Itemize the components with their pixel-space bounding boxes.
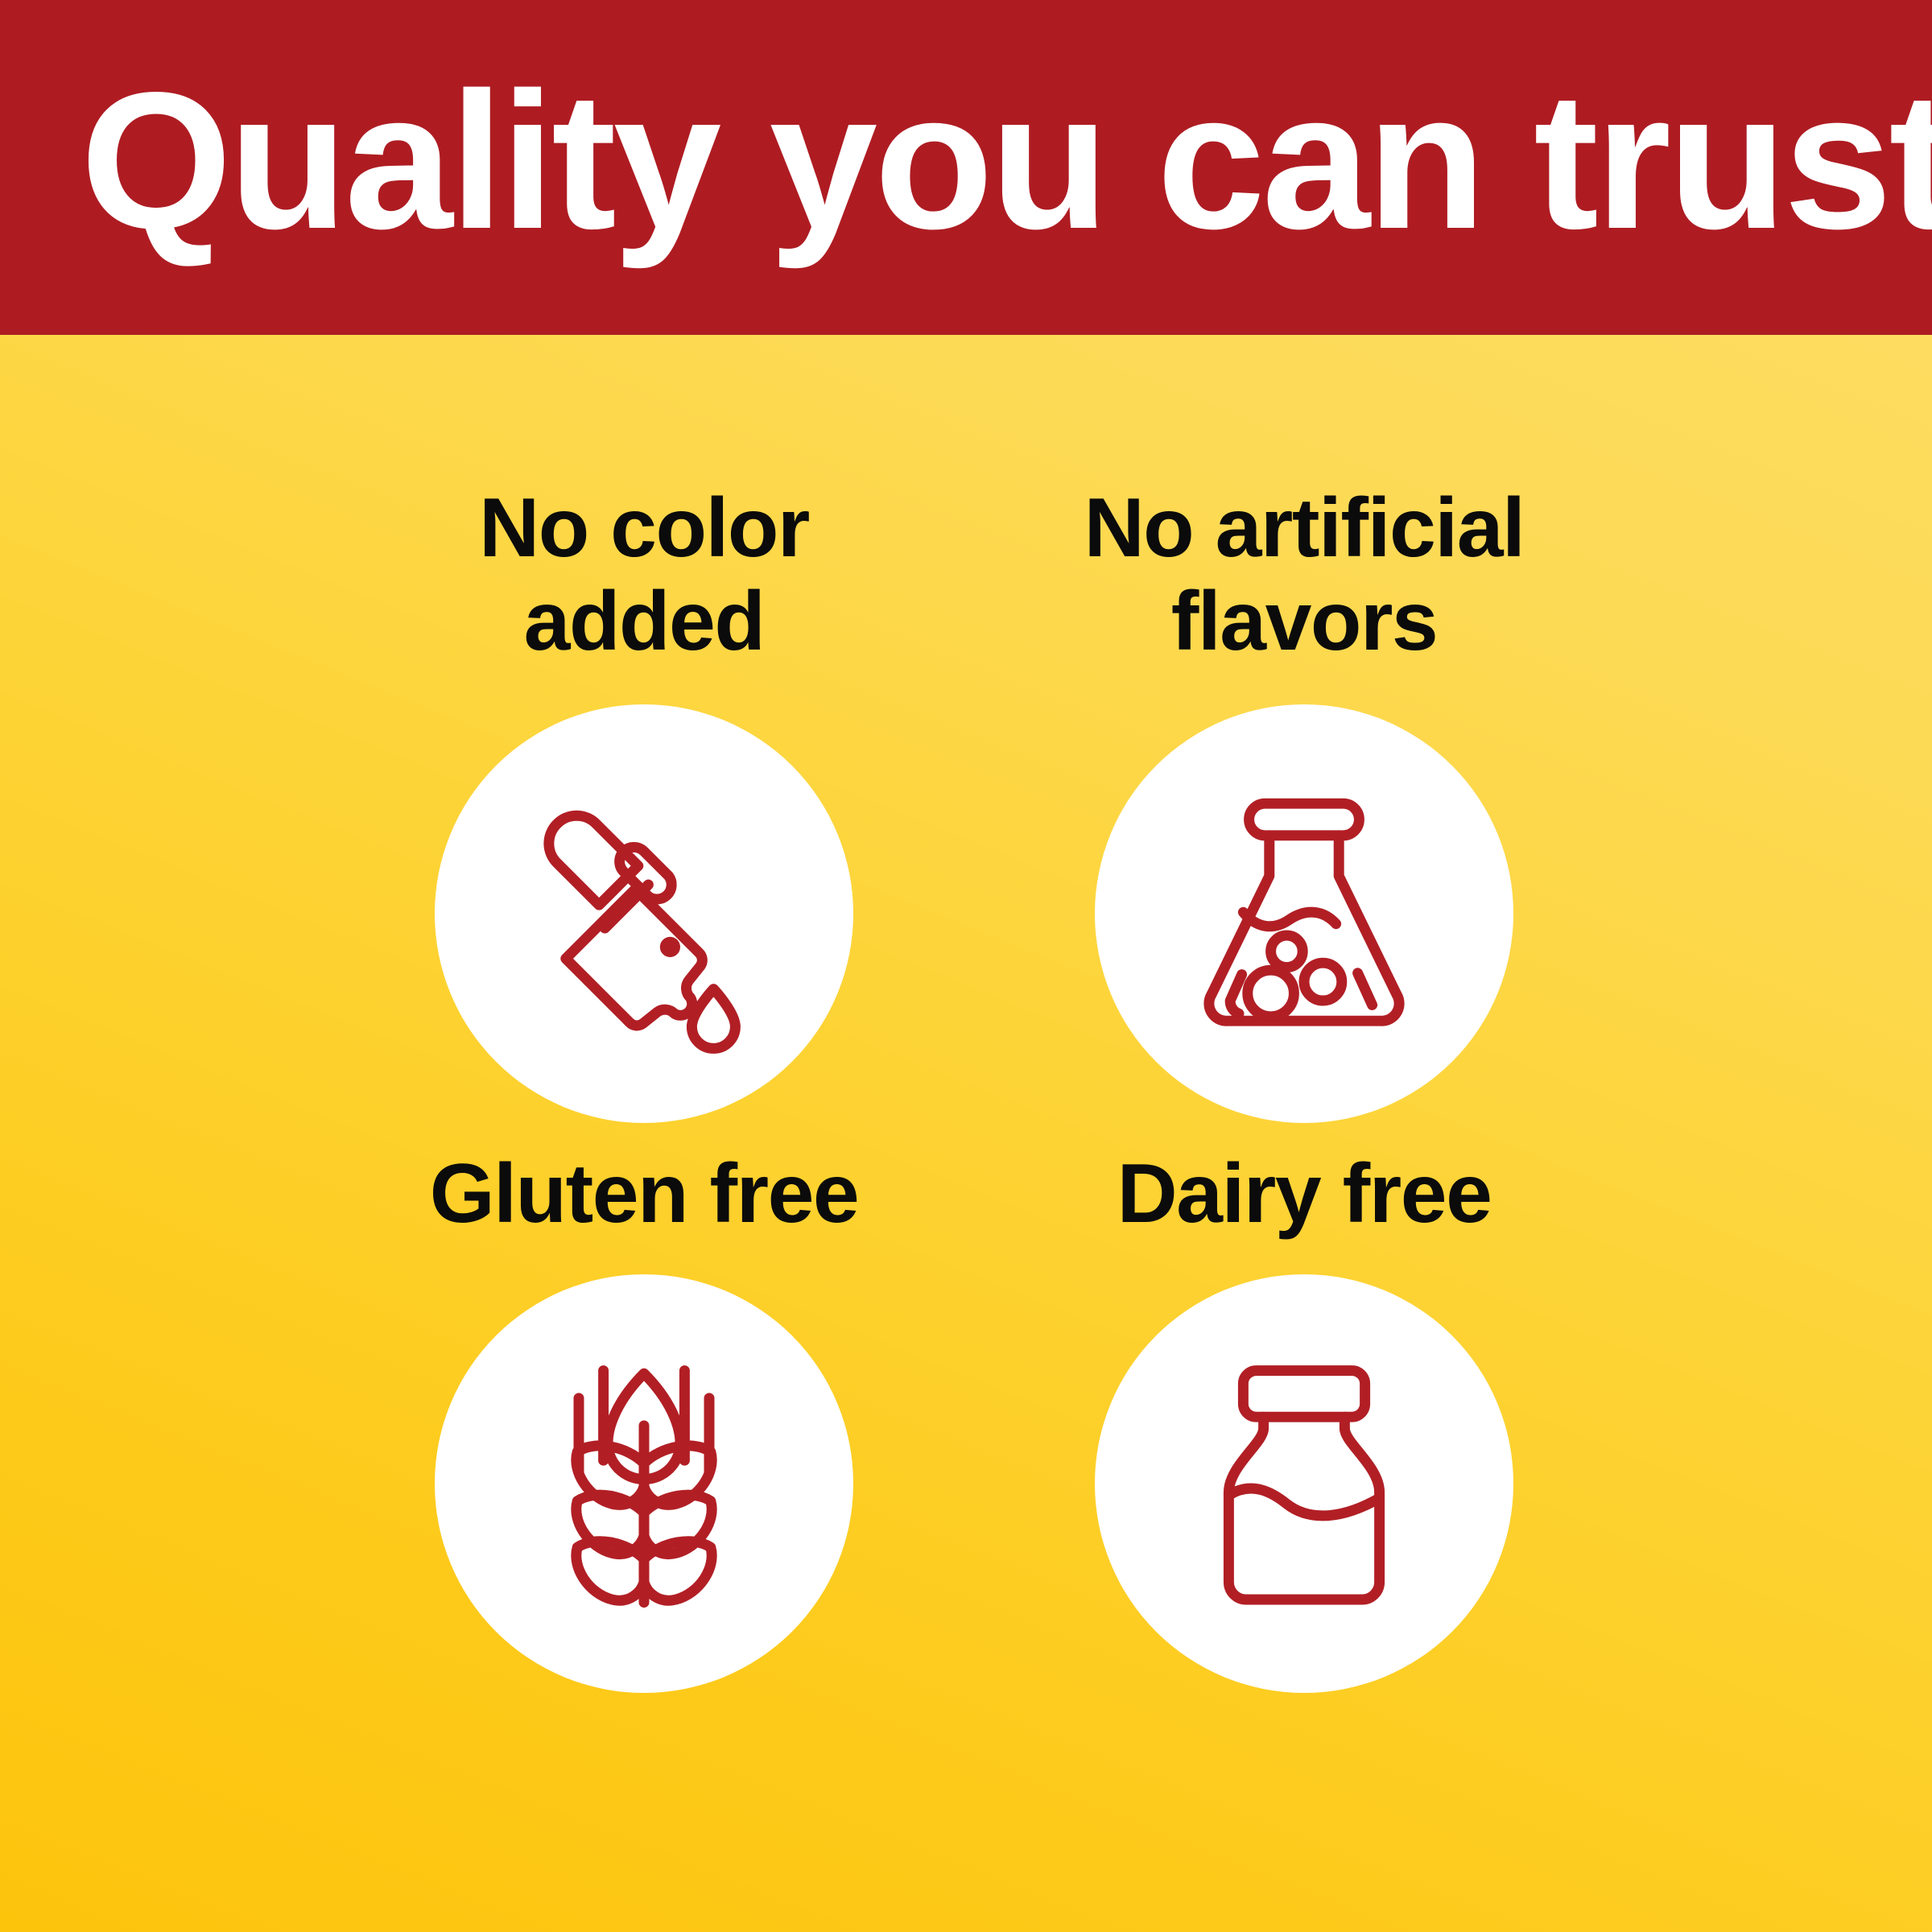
wheat-icon [499, 1339, 789, 1629]
badge-label: No artificial flavors [1084, 481, 1525, 669]
badge-dairy-free: Dairy free [966, 1147, 1642, 1693]
badge-gluten-free: Gluten free [306, 1147, 982, 1693]
badge-grid: No color added [0, 335, 1932, 1932]
eyedropper-icon [499, 769, 789, 1059]
badge-icon-circle [435, 704, 853, 1123]
flask-icon [1159, 769, 1449, 1059]
milk-bottle-icon [1159, 1339, 1449, 1629]
badge-icon-circle [1095, 704, 1513, 1123]
infographic-canvas: Quality you can trust No color added [0, 0, 1932, 1932]
badge-label: No color added [479, 481, 809, 669]
page-title: Quality you can trust [0, 64, 1932, 258]
badge-icon-circle [435, 1274, 853, 1693]
badge-icon-circle [1095, 1274, 1513, 1693]
badge-label: Gluten free [430, 1147, 859, 1241]
badge-no-artificial-flavors: No artificial flavors [966, 481, 1642, 1123]
badge-label: Dairy free [1117, 1147, 1492, 1241]
header-banner: Quality you can trust [0, 0, 1932, 335]
badge-no-color-added: No color added [306, 481, 982, 1123]
